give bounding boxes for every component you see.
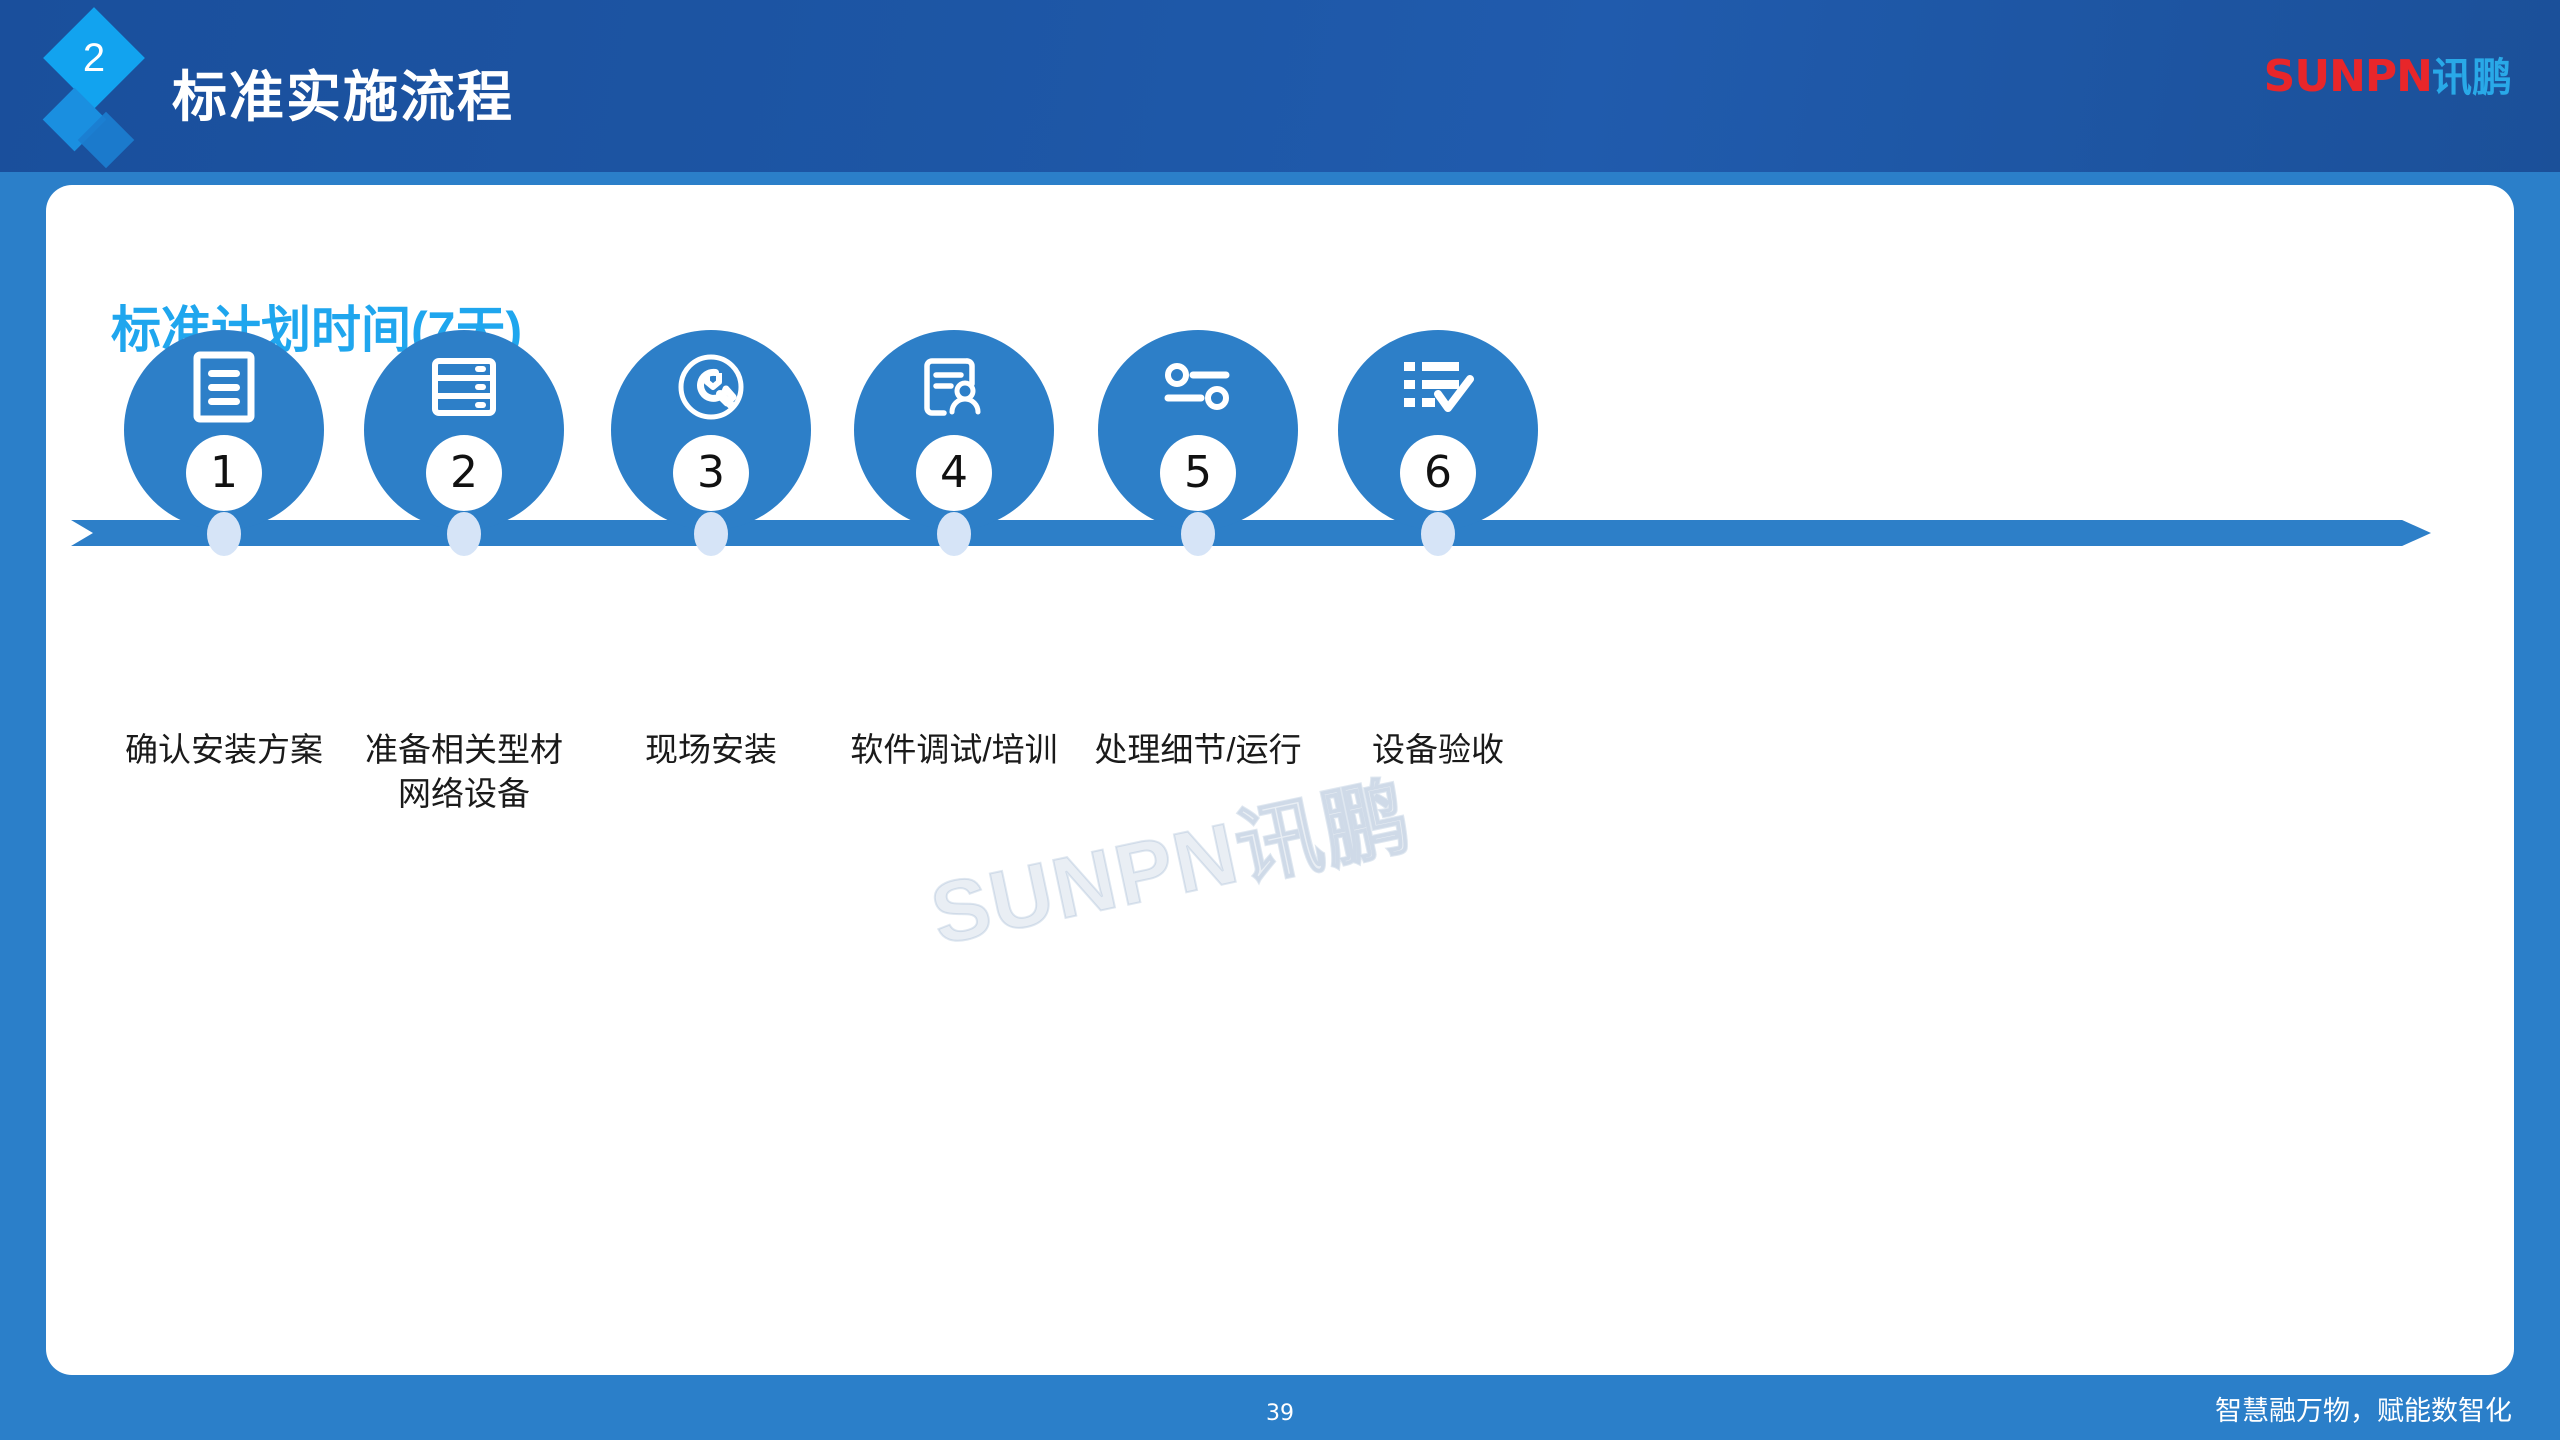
timeline-dot-1 (207, 512, 241, 556)
document-lines-icon (124, 346, 324, 428)
timeline-pin-4[interactable]: 4 (854, 330, 1054, 520)
sliders-icon (1098, 346, 1298, 428)
timeline-pin-6[interactable]: 6 (1338, 330, 1538, 520)
timeline-step-1[interactable]: 1 确认安装方案 (104, 330, 344, 520)
brand-logo-cn: 讯鹏 (2432, 56, 2512, 100)
step-label-6: 设备验收 (1278, 728, 1598, 772)
content-card: 标准计划时间(7天) SUNPN讯鹏 (46, 185, 2514, 1375)
timeline-pin-1[interactable]: 1 (124, 330, 324, 520)
timeline-dot-3 (694, 512, 728, 556)
page-number: 39 (0, 1401, 2560, 1426)
step-number-6: 6 (1400, 435, 1476, 511)
timeline-pin-2[interactable]: 2 (364, 330, 564, 520)
timeline-diagram: 1 确认安装方案 2 (46, 185, 2514, 1375)
timeline-step-5[interactable]: 5 处理细节/运行 (1078, 330, 1318, 520)
header-badge-number: 2 (58, 22, 130, 94)
step-number-3: 3 (673, 435, 749, 511)
timeline-pin-3[interactable]: 3 (611, 330, 811, 520)
checklist-check-icon (1338, 346, 1538, 428)
server-rack-icon (364, 346, 564, 428)
timeline-dot-6 (1421, 512, 1455, 556)
document-user-icon (854, 346, 1054, 428)
brand-logo: SUNPN讯鹏 (2264, 55, 2512, 99)
step-number-5: 5 (1160, 435, 1236, 511)
footer-tagline: 智慧融万物，赋能数智化 (2215, 1389, 2512, 1428)
timeline-step-3[interactable]: 3 现场安装 (591, 330, 831, 520)
step-number-4: 4 (916, 435, 992, 511)
timeline-dot-5 (1181, 512, 1215, 556)
timeline-dot-4 (937, 512, 971, 556)
page-title: 标准实施流程 (172, 52, 514, 132)
wrench-circle-icon (611, 346, 811, 428)
timeline-step-6[interactable]: 6 设备验收 (1318, 330, 1558, 520)
timeline-dot-2 (447, 512, 481, 556)
timeline-step-2[interactable]: 2 准备相关型材 网络设备 (344, 330, 584, 520)
step-number-1: 1 (186, 435, 262, 511)
timeline-pin-5[interactable]: 5 (1098, 330, 1298, 520)
step-number-2: 2 (426, 435, 502, 511)
timeline-step-4[interactable]: 4 软件调试/培训 (834, 330, 1074, 520)
slide-header: 2 标准实施流程 SUNPN讯鹏 (0, 0, 2560, 172)
brand-logo-latin: SUNPN (2264, 51, 2432, 102)
